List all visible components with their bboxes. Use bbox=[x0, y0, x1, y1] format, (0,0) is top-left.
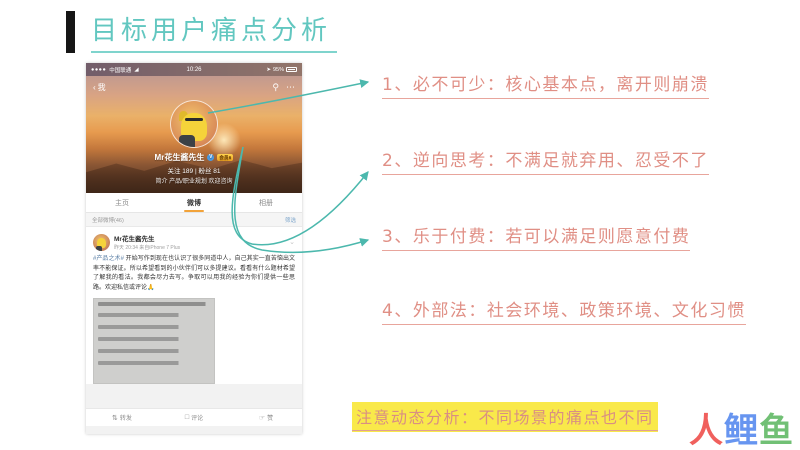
bullet-1-underline bbox=[382, 98, 709, 99]
post-body-text: 开始写作到现在也认识了很多同道中人，自己其实一直苦恼出文率不能保证。所以希望看到… bbox=[93, 256, 295, 291]
like-button[interactable]: ☞ 赞 bbox=[230, 413, 302, 422]
post-count-label: 全部微博(46) bbox=[92, 216, 124, 224]
image-line bbox=[98, 313, 210, 317]
followers-label: 粉丝 bbox=[198, 168, 211, 175]
filter-button[interactable]: 筛选 bbox=[285, 216, 296, 224]
image-line bbox=[98, 361, 210, 365]
post-avatar-body-shape bbox=[96, 246, 102, 250]
search-icon[interactable]: ⚲ bbox=[272, 83, 279, 92]
phone-screenshot: ●●●● 中国联通 ◢ 10:26 ➤ 95% ‹ 我 ⚲ ⋯ bbox=[86, 63, 302, 434]
title-text-wrap: 目标用户痛点分析 bbox=[91, 10, 331, 53]
image-line bbox=[98, 337, 210, 341]
bullet-2-text: 2、逆向思考：不满足就弃用、忍受不了 bbox=[382, 151, 709, 171]
post-attached-image[interactable] bbox=[93, 298, 215, 384]
back-button[interactable]: ‹ 我 bbox=[93, 82, 106, 93]
profile-tabs: 主页 微博 相册 bbox=[86, 193, 302, 213]
member-badge: 会员6 bbox=[217, 154, 233, 161]
nav-right-group: ⚲ ⋯ bbox=[272, 83, 295, 92]
bottom-note-text: 注意动态分析：不同场景的痛点也不同 bbox=[356, 408, 654, 427]
ellipsis-icon[interactable]: ⋯ bbox=[286, 83, 295, 92]
post-topic-tag[interactable]: #产品之术# bbox=[93, 256, 124, 262]
phone-status-bar: ●●●● 中国联通 ◢ 10:26 ➤ 95% bbox=[86, 63, 302, 76]
bullet-4-text: 4、外部法：社会环境、政策环境、文化习惯 bbox=[382, 301, 746, 321]
like-label: 赞 bbox=[267, 413, 273, 422]
bullet-3-underline bbox=[382, 250, 690, 251]
watermark-char-2: 鲤 bbox=[724, 411, 759, 450]
bullet-3-text: 3、乐于付费：若可以满足则愿意付费 bbox=[382, 227, 690, 247]
back-label: 我 bbox=[98, 82, 106, 93]
bullet-4-underline bbox=[382, 324, 746, 325]
bullet-item-1: 1、必不可少：核心基本点，离开则崩溃 bbox=[382, 70, 709, 99]
chevron-left-icon: ‹ bbox=[93, 83, 96, 92]
post-card: Mr花生酱先生 昨天 20:34 来自iPhone 7 Plus ⌄ #产品之术… bbox=[86, 227, 302, 384]
status-time: 10:26 bbox=[86, 67, 302, 73]
post-action-bar: ⇅ 转发 □ 评论 ☞ 赞 bbox=[86, 408, 302, 426]
post-filter-bar: 全部微博(46) 筛选 bbox=[86, 213, 302, 227]
bullet-item-2: 2、逆向思考：不满足就弃用、忍受不了 bbox=[382, 146, 709, 175]
page-title: 目标用户痛点分析 bbox=[91, 10, 331, 47]
watermark: 人鲤鱼 bbox=[689, 414, 794, 448]
like-icon: ☞ bbox=[259, 414, 265, 422]
bullet-item-4: 4、外部法：社会环境、政策环境、文化习惯 bbox=[382, 296, 746, 325]
following-count: 189 bbox=[182, 168, 193, 175]
bullet-1-text: 1、必不可少：核心基本点，离开则崩溃 bbox=[382, 75, 709, 95]
bullet-2-underline bbox=[382, 174, 709, 175]
comment-button[interactable]: □ 评论 bbox=[158, 413, 230, 422]
avatar-body-shape bbox=[179, 135, 195, 147]
bullet-item-3: 3、乐于付费：若可以满足则愿意付费 bbox=[382, 222, 690, 251]
chevron-down-icon[interactable]: ⌄ bbox=[289, 238, 295, 246]
repost-label: 转发 bbox=[120, 413, 132, 422]
image-line bbox=[98, 349, 210, 353]
repost-button[interactable]: ⇅ 转发 bbox=[86, 413, 158, 422]
profile-username: Mr花生酱先生 bbox=[155, 152, 205, 163]
tab-album[interactable]: 相册 bbox=[249, 198, 283, 208]
avatar[interactable] bbox=[170, 100, 218, 148]
profile-stats: 关注 189 | 粉丝 81 bbox=[86, 165, 302, 175]
slide-title-block: 目标用户痛点分析 bbox=[66, 10, 331, 53]
image-line bbox=[98, 325, 210, 329]
post-avatar[interactable] bbox=[93, 234, 110, 251]
watermark-char-1: 人 bbox=[689, 411, 724, 450]
phone-nav-bar: ‹ 我 ⚲ ⋯ bbox=[86, 76, 302, 98]
post-header: Mr花生酱先生 昨天 20:34 来自iPhone 7 Plus ⌄ bbox=[93, 233, 295, 251]
following-label: 关注 bbox=[167, 168, 180, 175]
battery-icon bbox=[286, 67, 297, 72]
repost-icon: ⇅ bbox=[112, 414, 118, 422]
image-line bbox=[98, 302, 210, 306]
title-underline bbox=[91, 51, 337, 53]
followers-count: 81 bbox=[213, 168, 220, 175]
bottom-note-underline bbox=[352, 430, 658, 431]
profile-username-row: Mr花生酱先生 V 会员6 bbox=[86, 152, 302, 163]
comment-icon: □ bbox=[185, 414, 189, 421]
stats-separator: | bbox=[195, 168, 197, 175]
profile-cover: ‹ 我 ⚲ ⋯ Mr花生酱先生 V 会员6 关注 189 | 粉丝 81 bbox=[86, 76, 302, 193]
title-accent-bar bbox=[66, 11, 75, 53]
bottom-note: 注意动态分析：不同场景的痛点也不同 bbox=[352, 402, 658, 432]
verified-badge-icon: V bbox=[207, 154, 214, 161]
post-author: Mr花生酱先生 bbox=[114, 233, 285, 243]
profile-bio: 简介 产品/职业规划 欢迎咨询 bbox=[86, 176, 302, 185]
post-timestamp: 昨天 20:34 来自iPhone 7 Plus bbox=[114, 244, 285, 251]
comment-label: 评论 bbox=[191, 413, 203, 422]
tab-home[interactable]: 主页 bbox=[105, 198, 139, 208]
avatar-sunglasses-shape bbox=[185, 118, 203, 121]
watermark-char-3: 鱼 bbox=[759, 411, 794, 450]
post-body: #产品之术# 开始写作到现在也认识了很多同道中人，自己其实一直苦恼出文率不能保证… bbox=[93, 255, 295, 294]
post-meta: Mr花生酱先生 昨天 20:34 来自iPhone 7 Plus bbox=[114, 233, 285, 251]
tab-weibo[interactable]: 微博 bbox=[177, 198, 211, 208]
